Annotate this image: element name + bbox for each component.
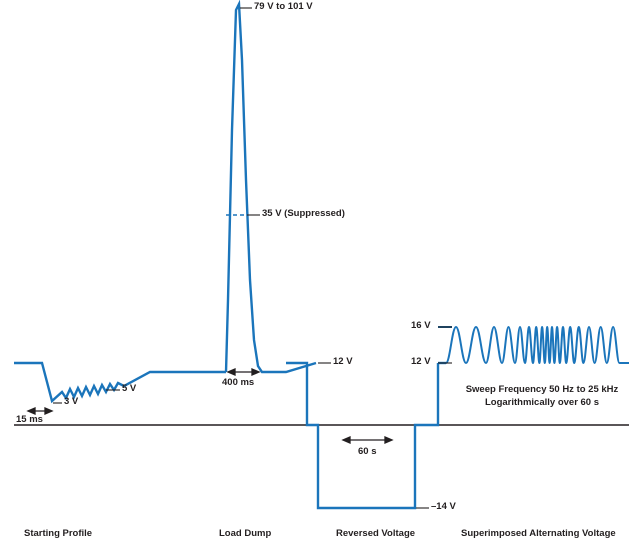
section-label-superimposed-alternating-voltage: Superimposed Alternating Voltage xyxy=(461,528,616,539)
label-12v-alt: 12 V xyxy=(411,357,431,368)
label-5v: 5 V xyxy=(122,384,136,395)
trace-load-dump xyxy=(226,4,316,372)
label-16v: 16 V xyxy=(411,321,431,332)
label-3v: 3 V xyxy=(64,397,78,408)
section-label-load-dump: Load Dump xyxy=(219,528,271,539)
section-label-starting-profile: Starting Profile xyxy=(24,528,92,539)
section-label-reversed-voltage: Reversed Voltage xyxy=(336,528,415,539)
label-minus-14v: –14 V xyxy=(431,502,456,513)
dimension-400ms xyxy=(228,369,259,375)
sweep-note-line-1: Sweep Frequency 50 Hz to 25 kHz xyxy=(462,384,622,397)
trace-alternating-oscillation xyxy=(446,327,629,363)
waveform-diagram: 79 V to 101 V 35 V (Suppressed) 12 V 400… xyxy=(0,0,641,547)
label-400ms: 400 ms xyxy=(222,378,254,389)
label-suppressed: 35 V (Suppressed) xyxy=(262,209,345,220)
trace-nominal-to-reversed xyxy=(286,363,438,508)
sweep-note-line-2: Logarithmically over 60 s xyxy=(462,397,622,410)
sweep-frequency-note: Sweep Frequency 50 Hz to 25 kHz Logarith… xyxy=(462,384,622,410)
label-60s: 60 s xyxy=(358,447,377,458)
label-load-dump-peak: 79 V to 101 V xyxy=(254,2,313,13)
label-15ms: 15 ms xyxy=(16,415,43,426)
waveform-svg xyxy=(0,0,641,547)
dimension-60s xyxy=(343,437,392,443)
label-12v-nominal: 12 V xyxy=(333,357,353,368)
trace-starting-profile xyxy=(14,363,226,401)
